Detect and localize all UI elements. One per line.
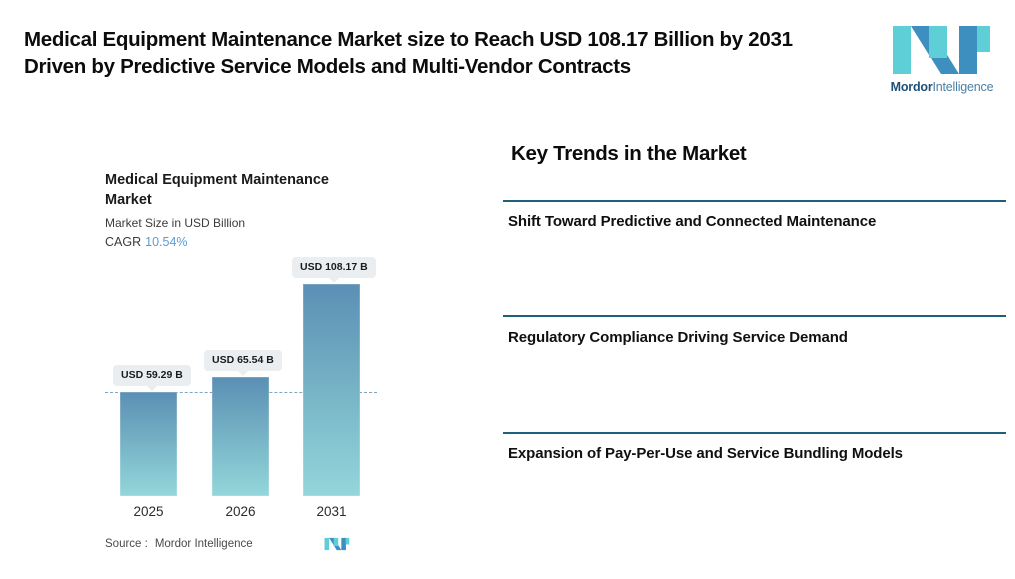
trend-item-3[interactable]: Expansion of Pay-Per-Use and Service Bun… bbox=[508, 442, 988, 466]
tooltip-pointer bbox=[146, 385, 158, 391]
header: Medical Equipment Maintenance Market siz… bbox=[0, 0, 1015, 120]
key-trends-heading: Key Trends in the Market bbox=[511, 142, 746, 166]
bar-value-text-2026: USD 65.54 B bbox=[212, 354, 274, 366]
source-value: Mordor Intelligence bbox=[155, 538, 253, 550]
x-axis-label-2025: 2025 bbox=[110, 504, 187, 519]
bar-2026 bbox=[212, 377, 269, 496]
source-label: Source : bbox=[105, 538, 148, 550]
x-axis-label-2031: 2031 bbox=[293, 504, 370, 519]
bar-2031 bbox=[303, 284, 360, 496]
wordmark-light: Intelligence bbox=[933, 80, 994, 94]
tooltip-pointer bbox=[328, 277, 340, 283]
market-size-chart: Medical Equipment Maintenance Market Mar… bbox=[0, 120, 470, 579]
mordor-intelligence-logo: MordorIntelligence bbox=[887, 22, 997, 96]
trend-item-2[interactable]: Regulatory Compliance Driving Service De… bbox=[508, 326, 988, 350]
trend-divider-3 bbox=[503, 432, 1006, 434]
mordor-m-mark-icon-small bbox=[323, 533, 351, 555]
page-title: Medical Equipment Maintenance Market siz… bbox=[24, 26, 844, 80]
bar-value-text-2025: USD 59.29 B bbox=[121, 369, 183, 381]
bar-value-label-2025: USD 59.29 B bbox=[113, 365, 191, 386]
tooltip-pointer bbox=[237, 370, 249, 376]
mordor-wordmark: MordorIntelligence bbox=[887, 80, 997, 94]
mordor-m-mark-icon bbox=[887, 22, 997, 78]
bar-value-label-2026: USD 65.54 B bbox=[204, 350, 282, 371]
trend-divider-1 bbox=[503, 200, 1006, 202]
wordmark-bold: Mordor bbox=[891, 80, 933, 94]
trend-item-1[interactable]: Shift Toward Predictive and Connected Ma… bbox=[508, 210, 988, 234]
chart-plot-area: USD 59.29 B USD 65.54 B USD 108.17 B 202… bbox=[0, 120, 470, 540]
x-axis-label-2026: 2026 bbox=[202, 504, 279, 519]
key-trends-panel: Key Trends in the Market Shift Toward Pr… bbox=[503, 130, 1006, 560]
bar-value-text-2031: USD 108.17 B bbox=[300, 261, 368, 273]
trend-divider-2 bbox=[503, 315, 1006, 317]
bar-2025 bbox=[120, 392, 177, 496]
bar-value-label-2031: USD 108.17 B bbox=[292, 257, 376, 278]
chart-source: Source :Mordor Intelligence bbox=[105, 538, 253, 550]
